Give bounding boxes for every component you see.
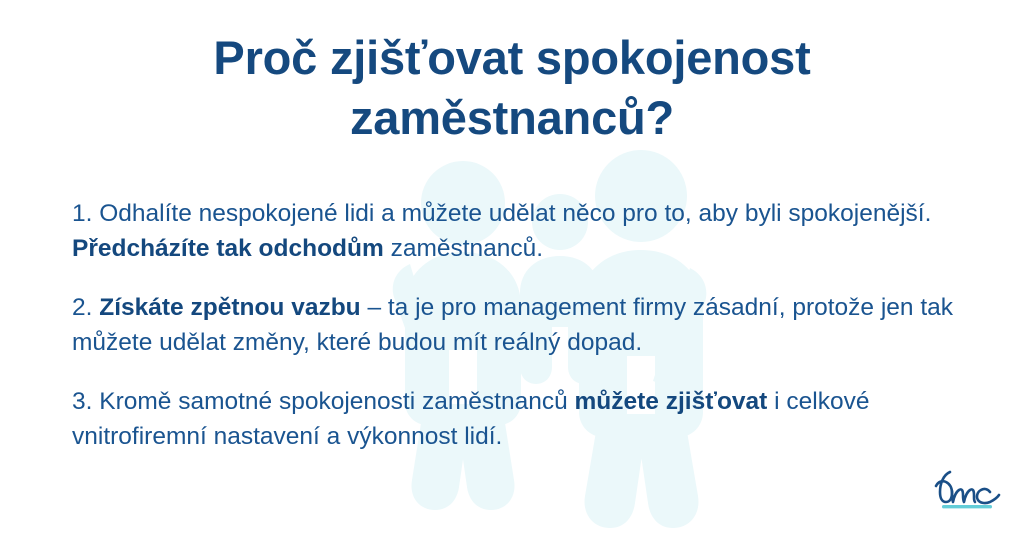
page-title-line-1: Proč zjišťovat spokojenost bbox=[0, 28, 1024, 88]
body-content: 1. Odhalíte nespokojené lidi a můžete ud… bbox=[72, 196, 964, 454]
reason-paragraph-3: 3. Kromě samotné spokojenosti zaměstnanc… bbox=[72, 384, 964, 454]
page-title-line-2: zaměstnanců? bbox=[0, 88, 1024, 148]
reason-1-emphasis: Předcházíte tak odchodům bbox=[72, 235, 384, 262]
slide-canvas: Proč zjišťovat spokojenost zaměstnanců? … bbox=[0, 0, 1024, 536]
reason-3-text-part-1: 3. Kromě samotné spokojenosti zaměstnanc… bbox=[72, 388, 575, 415]
reason-paragraph-2: 2. Získáte zpětnou vazbu – ta je pro man… bbox=[72, 290, 964, 360]
reason-3-emphasis: můžete zjišťovat bbox=[575, 388, 768, 415]
reason-paragraph-1: 1. Odhalíte nespokojené lidi a můžete ud… bbox=[72, 196, 964, 266]
reason-2-text-part-1: 2. bbox=[72, 294, 99, 321]
reason-1-text-part-2: zaměstnanců. bbox=[384, 235, 543, 262]
lmc-logo bbox=[930, 466, 1002, 518]
reason-2-emphasis: Získáte zpětnou vazbu bbox=[99, 294, 360, 321]
reason-1-text-part-1: 1. Odhalíte nespokojené lidi a můžete ud… bbox=[72, 200, 931, 227]
page-title: Proč zjišťovat spokojenost zaměstnanců? bbox=[0, 28, 1024, 148]
